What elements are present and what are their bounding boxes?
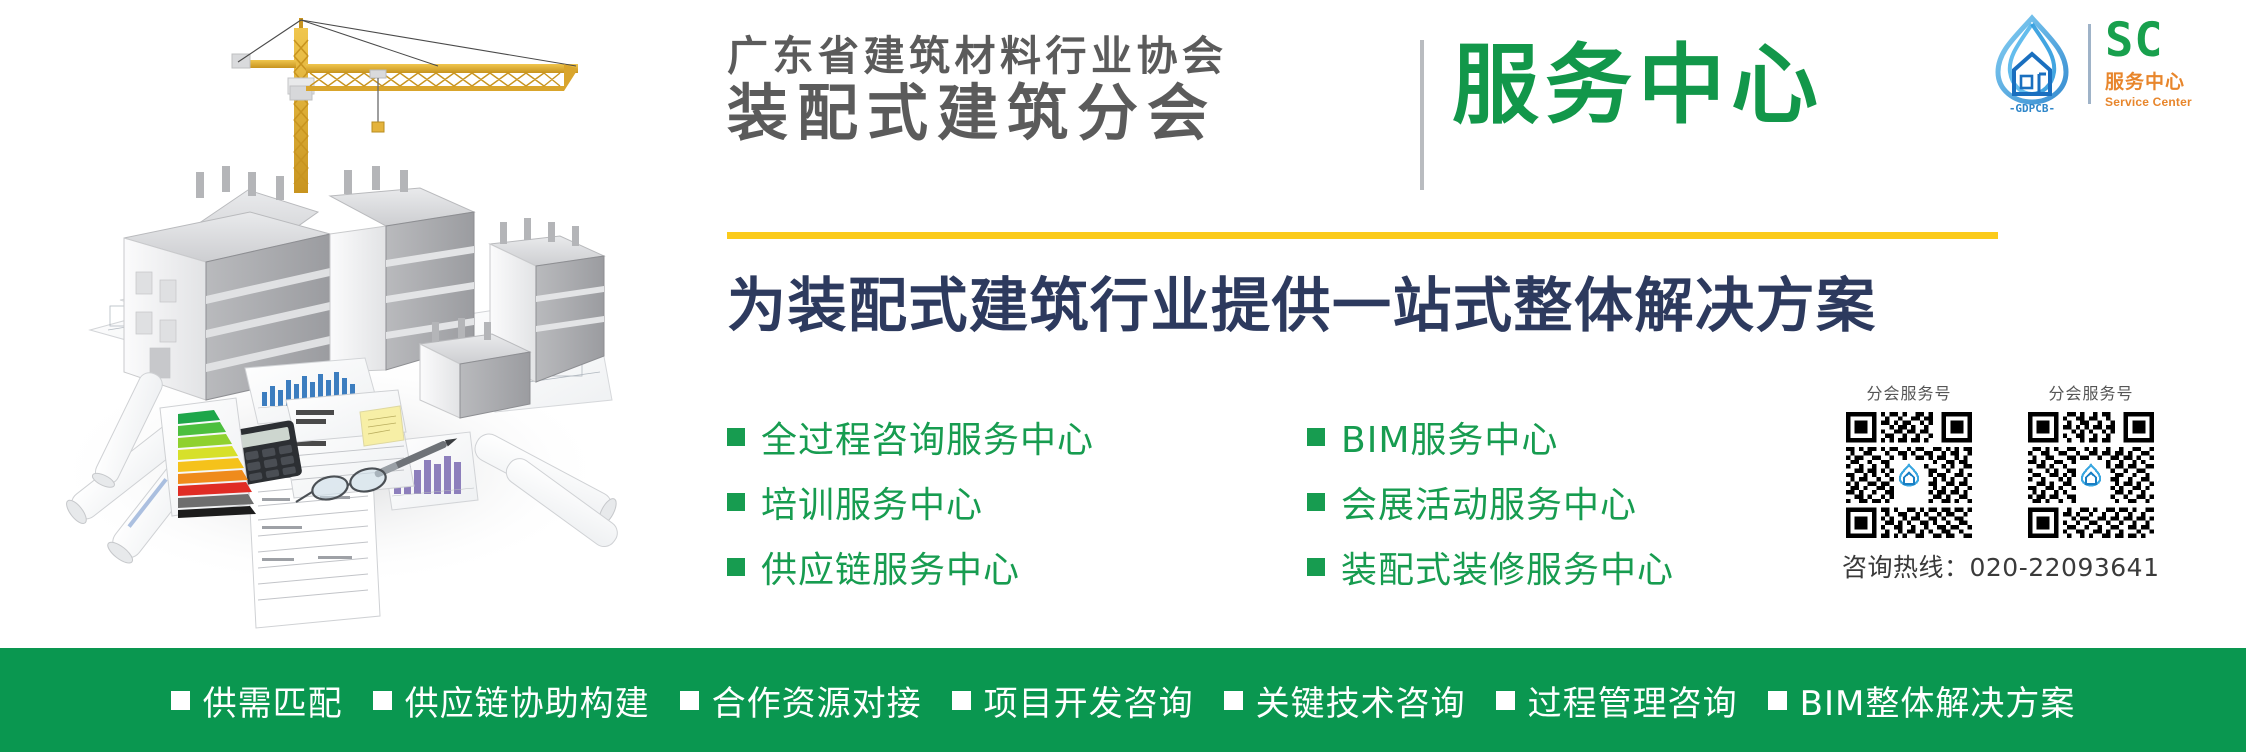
bottom-item-label: 项目开发咨询	[984, 676, 1194, 725]
sc-english-label: Service Center	[2105, 95, 2192, 109]
qr-code-row: 分会服务号	[1842, 380, 2222, 538]
bottom-item-label: 关键技术咨询	[1256, 676, 1466, 725]
bottom-item-label: BIM整体解决方案	[1800, 676, 2076, 725]
bottom-item-label: 供需匹配	[203, 676, 343, 725]
bottom-item-3[interactable]: 合作资源对接	[680, 676, 922, 725]
sticky-note	[360, 406, 404, 446]
bottom-item-label: 供应链协助构建	[405, 676, 650, 725]
bottom-item-4[interactable]: 项目开发咨询	[952, 676, 1194, 725]
qr-code-cell-2[interactable]: 分会服务号	[2024, 380, 2158, 538]
service-list-right-column: BIM服务中心 会展活动服务中心 装配式装修服务中心	[1307, 404, 1674, 599]
qr-contact-block: 分会服务号	[1842, 380, 2222, 584]
yellow-divider-rule	[727, 232, 1998, 239]
service-list-left-column: 全过程咨询服务中心 培训服务中心 供应链服务中心	[727, 404, 1094, 599]
service-item-label: 全过程咨询服务中心	[761, 411, 1094, 463]
service-item-2[interactable]: 培训服务中心	[727, 469, 1094, 534]
bottom-item-6[interactable]: 过程管理咨询	[1496, 676, 1738, 725]
main-tagline: 为装配式建筑行业提供一站式整体解决方案	[727, 258, 1877, 343]
square-bullet-icon	[1307, 493, 1325, 511]
sc-letters: SC	[2105, 19, 2164, 63]
service-item-label: 装配式装修服务中心	[1341, 541, 1674, 593]
service-item-4[interactable]: BIM服务中心	[1307, 404, 1674, 469]
qr-label-2: 分会服务号	[2048, 380, 2133, 404]
square-bullet-icon	[171, 691, 190, 710]
square-bullet-icon	[680, 691, 699, 710]
qr-code-cell-1[interactable]: 分会服务号	[1842, 380, 1976, 538]
service-item-label: 供应链服务中心	[761, 541, 1020, 593]
association-branch-name: 装配式建筑分会	[727, 80, 1387, 147]
bottom-item-label: 合作资源对接	[712, 676, 922, 725]
qr-label-1: 分会服务号	[1866, 380, 1951, 404]
gdpcb-caption: -GDPCB-	[2009, 102, 2055, 115]
sc-logo-text-block: SC 服务中心 Service Center	[2105, 19, 2192, 108]
bottom-service-bar: 供需匹配 供应链协助构建 合作资源对接 项目开发咨询 关键技术咨询 过程管理咨询	[0, 648, 2246, 752]
square-bullet-icon	[727, 428, 745, 446]
bottom-item-label: 过程管理咨询	[1528, 676, 1738, 725]
association-name-block: 广东省建筑材料行业协会 装配式建筑分会	[727, 34, 1387, 147]
square-bullet-icon	[727, 558, 745, 576]
gdpcb-house-flame-logo-icon: -GDPCB-	[1984, 12, 2080, 116]
service-item-5[interactable]: 会展活动服务中心	[1307, 469, 1674, 534]
square-bullet-icon	[1307, 558, 1325, 576]
sc-chinese-label: 服务中心	[2105, 67, 2185, 94]
bottom-item-5[interactable]: 关键技术咨询	[1224, 676, 1466, 725]
service-item-label: 会展活动服务中心	[1341, 476, 1637, 528]
bottom-items-row: 供需匹配 供应链协助构建 合作资源对接 项目开发咨询 关键技术咨询 过程管理咨询	[171, 676, 2076, 725]
construction-site-3d-render	[0, 0, 620, 648]
tower-crane	[232, 18, 578, 193]
square-bullet-icon	[727, 493, 745, 511]
square-bullet-icon	[952, 691, 971, 710]
bottom-item-2[interactable]: 供应链协助构建	[373, 676, 650, 725]
service-item-3[interactable]: 供应链服务中心	[727, 534, 1094, 599]
square-bullet-icon	[373, 691, 392, 710]
hotline-text: 咨询热线：020-22093641	[1842, 548, 2222, 584]
qr-code-image-2[interactable]	[2028, 412, 2154, 538]
bottom-item-7[interactable]: BIM整体解决方案	[1768, 676, 2076, 725]
service-item-label: 培训服务中心	[761, 476, 983, 528]
hero-illustration	[0, 0, 620, 648]
bottom-item-1[interactable]: 供需匹配	[171, 676, 343, 725]
square-bullet-icon	[1496, 691, 1515, 710]
service-item-1[interactable]: 全过程咨询服务中心	[727, 404, 1094, 469]
square-bullet-icon	[1307, 428, 1325, 446]
square-bullet-icon	[1224, 691, 1243, 710]
logo-divider	[2088, 24, 2091, 104]
association-name-line1: 广东省建筑材料行业协会	[727, 34, 1387, 78]
banner-root: 广东省建筑材料行业协会 装配式建筑分会 服务中心	[0, 0, 2246, 752]
qr-code-image-1[interactable]	[1846, 412, 1972, 538]
service-center-title: 服务中心	[1452, 36, 1824, 135]
brand-logo[interactable]: -GDPCB- SC 服务中心 Service Center	[1984, 12, 2210, 116]
square-bullet-icon	[1768, 691, 1787, 710]
service-item-6[interactable]: 装配式装修服务中心	[1307, 534, 1674, 599]
header-vertical-divider	[1420, 40, 1424, 190]
service-item-label: BIM服务中心	[1341, 411, 1558, 463]
